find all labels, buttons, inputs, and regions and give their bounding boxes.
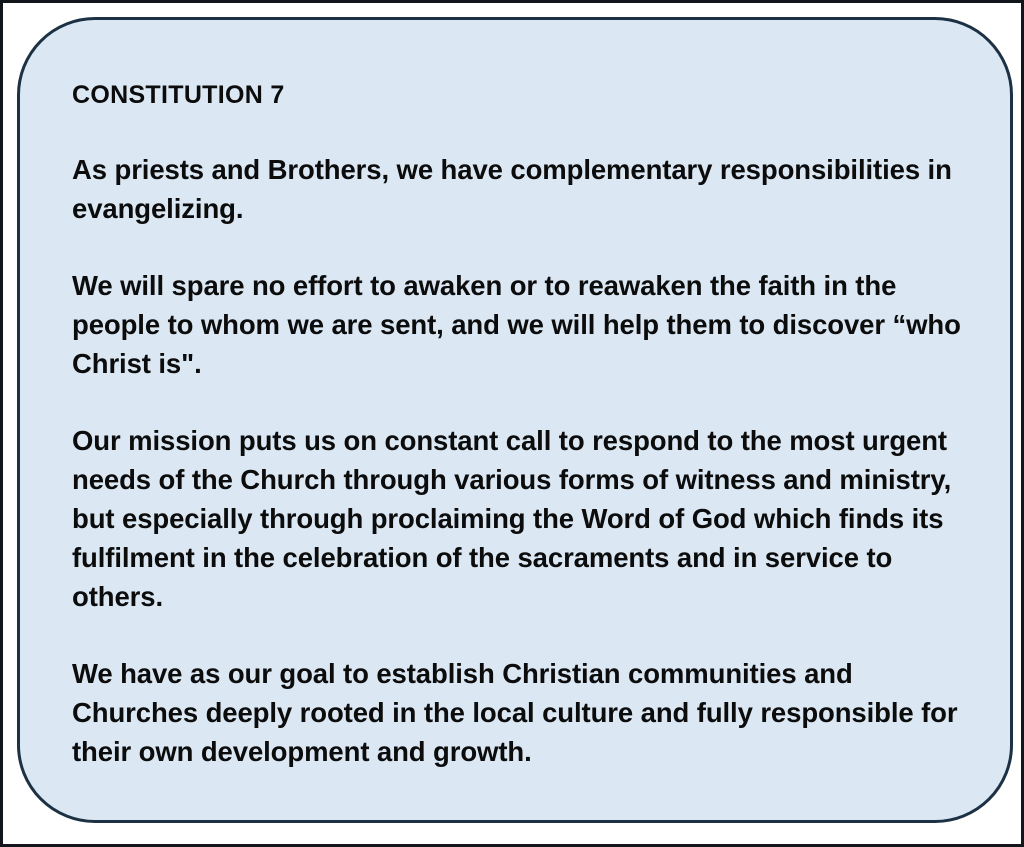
paragraph-christian-communities-goal: We have as our goal to establish Christi…: [72, 654, 966, 771]
card-content: CONSTITUTION 7 As priests and Brothers, …: [72, 78, 966, 771]
paragraph-complementary-responsibilities: As priests and Brothers, we have complem…: [72, 150, 966, 228]
constitution-callout-card: CONSTITUTION 7 As priests and Brothers, …: [17, 17, 1013, 823]
paragraph-awaken-faith: We will spare no effort to awaken or to …: [72, 266, 966, 383]
slide-frame: CONSTITUTION 7 As priests and Brothers, …: [0, 0, 1024, 847]
card-heading: CONSTITUTION 7: [72, 78, 966, 112]
paragraph-mission-constant-call: Our mission puts us on constant call to …: [72, 421, 966, 616]
